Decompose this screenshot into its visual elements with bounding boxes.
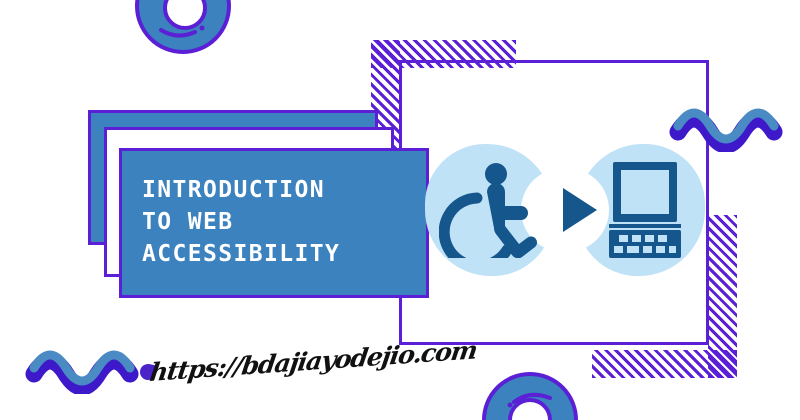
wavy-line-top-right xyxy=(668,98,796,152)
website-url-mark: https://bdajiayodejio.com xyxy=(152,358,352,408)
wheelchair-accessibility-icon xyxy=(439,162,539,258)
icon-cluster xyxy=(425,144,705,276)
title-card: INTRODUCTION TO WEB ACCESSIBILITY xyxy=(119,148,429,298)
wavy-line-bottom-left xyxy=(24,340,152,394)
slide-canvas: INTRODUCTION TO WEB ACCESSIBILITY xyxy=(0,0,800,420)
donut-ring-bottom xyxy=(482,372,578,420)
donut-smile-accent-icon xyxy=(155,20,215,50)
donut-ring-top xyxy=(135,0,231,54)
computer-monitor-keyboard-icon xyxy=(599,162,691,258)
play-arrow-icon xyxy=(563,188,597,232)
website-url[interactable]: https://bdajiayodejio.com xyxy=(148,335,479,386)
donut-arc-accent-icon xyxy=(506,386,566,416)
page-title: INTRODUCTION TO WEB ACCESSIBILITY xyxy=(122,175,340,270)
diagonal-stripe-corner-bottom-horizontal xyxy=(592,350,737,378)
